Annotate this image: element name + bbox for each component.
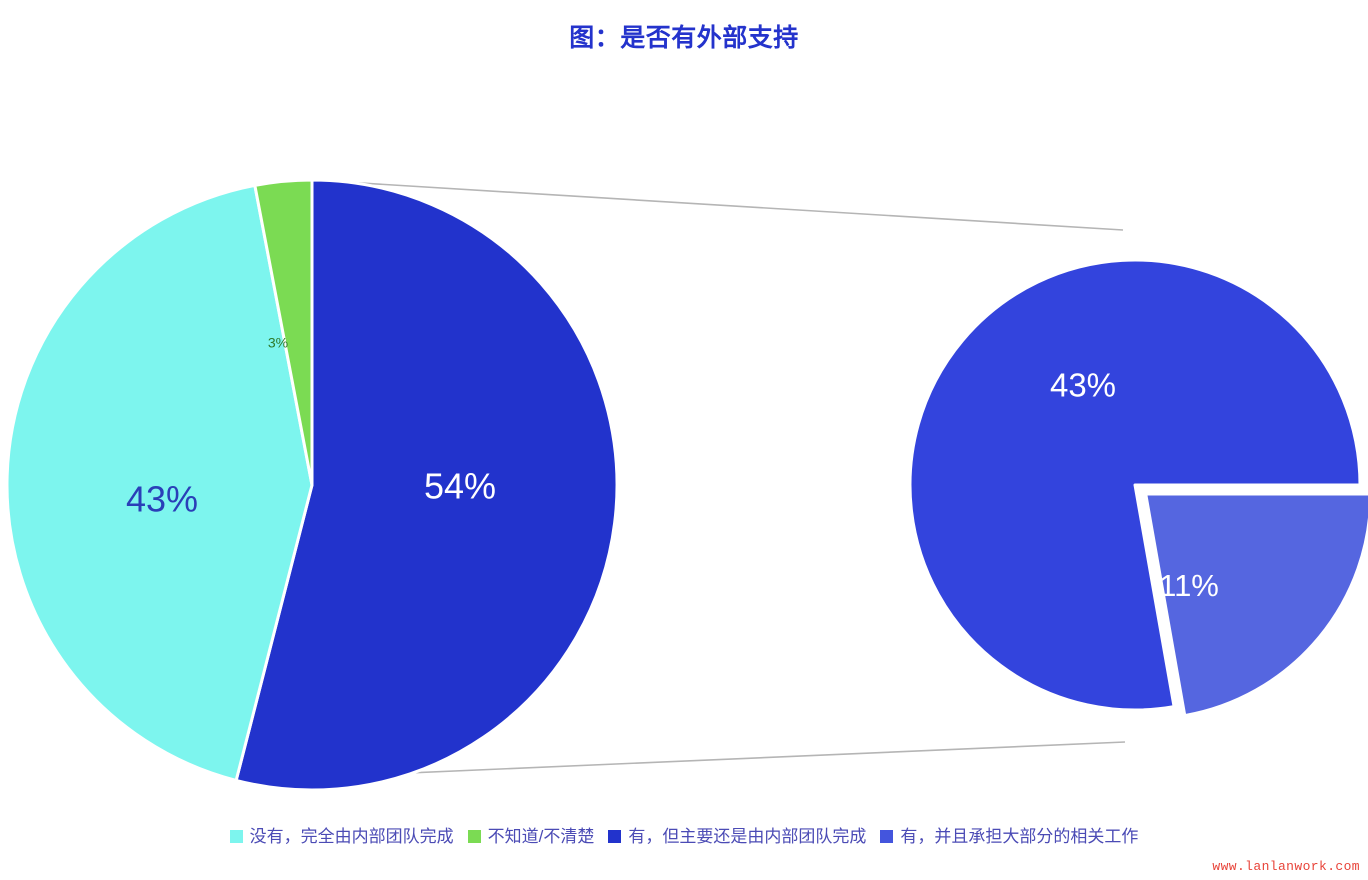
slice-value-label-3: 43%	[1050, 367, 1116, 404]
slice-value-label-4: 11%	[1159, 568, 1219, 603]
main-pie	[7, 180, 617, 790]
pie-of-pie-chart: 43%3%54%43%11%	[0, 0, 1368, 880]
slice-value-label-2: 54%	[424, 466, 496, 507]
watermark: www.lanlanwork.com	[1212, 859, 1360, 874]
slice-value-label-1: 3%	[268, 335, 288, 351]
secondary-pie-slice-1[interactable]	[1146, 494, 1368, 716]
slice-value-label-0: 43%	[126, 479, 198, 520]
secondary-pie	[910, 260, 1368, 716]
